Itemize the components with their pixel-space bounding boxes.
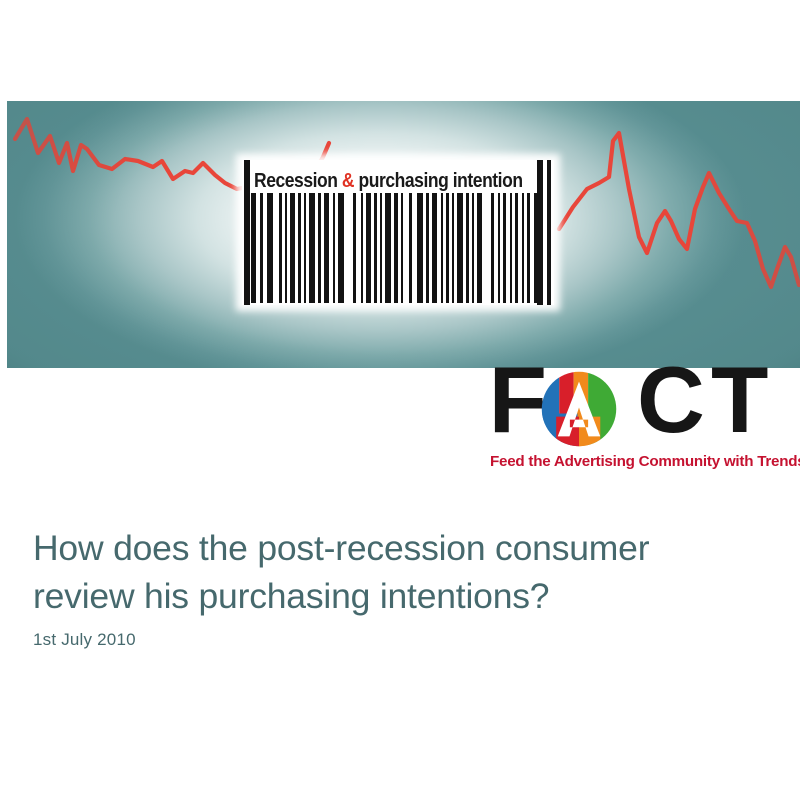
fact-letter-f: F [488, 360, 545, 440]
trend-line-right [559, 133, 799, 287]
slide-title-line-2: review his purchasing intentions? [33, 576, 549, 616]
slide-title: How does the post-recession consumer rev… [33, 524, 753, 620]
slide-date: 1st July 2010 [33, 630, 136, 650]
barcode-label: Recession & purchasing intention [254, 164, 544, 196]
barcode-graphic: Recession & purchasing intention [238, 160, 558, 305]
barcode-label-prefix: Recession [254, 169, 342, 192]
fact-tagline: Feed the Advertising Community with Tren… [490, 453, 800, 470]
fact-wordmark: F C T [489, 368, 800, 448]
fact-letter-t: T [711, 360, 766, 440]
fact-letter-a-color-circle [541, 371, 617, 447]
slide-title-line-1: How does the post-recession consumer [33, 528, 649, 568]
barcode-label-ampersand: & [342, 169, 354, 192]
slide-canvas: Recession & purchasing intention [0, 0, 800, 800]
fact-letter-c: C [637, 360, 703, 440]
barcode-label-suffix: purchasing intention [354, 169, 522, 192]
barcode-bars [245, 193, 548, 303]
fact-logo: F C T [489, 368, 800, 478]
